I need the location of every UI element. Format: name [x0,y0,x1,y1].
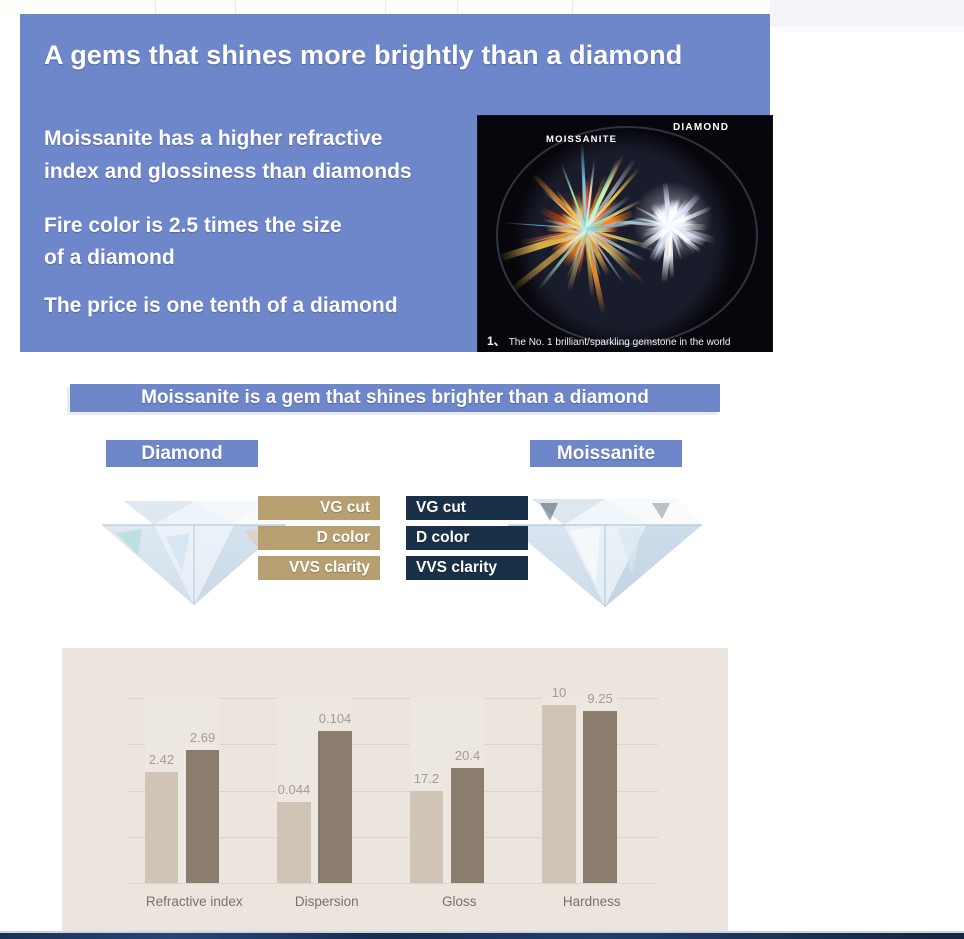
diamond-spec-color: D color [258,526,380,550]
page-title: A gems that shines more brightly than a … [44,40,744,71]
chart-bar-diamond [410,791,444,884]
photo-ring-highlight [496,126,759,345]
hero-line-3: Fire color is 2.5 times the size [44,214,342,238]
property-comparison-chart: 2.422.69Refractive index0.0440.104Disper… [62,648,728,933]
moissanite-spec-clarity: VVS clarity [406,556,528,580]
hero-line-5: The price is one tenth of a diamond [44,294,398,318]
chart-value-label: 17.2 [414,771,439,786]
chart-category-label: Dispersion [295,894,359,909]
sparkle-comparison-photo: MOISSANITE DIAMOND 1、The No. 1 brilliant… [477,115,773,356]
chart-value-label: 0.044 [278,782,311,797]
diamond-spec-cut: VG cut [258,496,380,520]
photo-label-moissanite: MOISSANITE [546,134,617,145]
moissanite-spec-list: VG cut D color VVS clarity [406,496,528,586]
chart-bar-moissanite [318,731,352,883]
hero-line-1: Moissanite has a higher refractive [44,127,382,151]
chart-bar-moissanite [583,711,617,883]
chart-bar-moissanite [451,768,485,883]
chart-category-label: Hardness [563,894,621,909]
moissanite-illustration [500,485,710,610]
chart-value-label: 0.104 [319,711,352,726]
chart-category-label: Gloss [442,894,477,909]
photo-caption: 1、The No. 1 brilliant/sparkling gemstone… [478,332,772,349]
diamond-spec-list: VG cut D color VVS clarity [258,496,380,586]
chart-value-label: 9.25 [587,691,612,706]
chart-bar-diamond [277,802,311,883]
moissanite-spec-color: D color [406,526,528,550]
chart-category-label: Refractive index [146,894,243,909]
chart-gridline [128,883,658,884]
moissanite-spec-cut: VG cut [406,496,528,520]
hero-panel: A gems that shines more brightly than a … [20,14,770,352]
bottom-bar [0,933,964,939]
chart-bar-diamond [145,772,179,883]
chart-value-label: 20.4 [455,748,480,763]
chart-value-label: 2.69 [190,730,215,745]
chart-plot-area: 2.422.69Refractive index0.0440.104Disper… [128,698,658,883]
chart-bar-diamond [542,705,576,883]
chart-value-label: 10 [552,685,566,700]
hero-line-4: of a diamond [44,246,175,270]
top-right-panel-edge [777,26,964,32]
diamond-spec-clarity: VVS clarity [258,556,380,580]
heading-moissanite: Moissanite [530,440,682,467]
chart-bar-moissanite [186,750,220,883]
photo-caption-number: 1、 [487,334,506,348]
heading-diamond: Diamond [106,440,258,467]
top-right-panel [770,0,964,26]
comparison-section: Moissanite is a gem that shines brighter… [0,352,964,642]
chart-value-label: 2.42 [149,752,174,767]
comparison-banner: Moissanite is a gem that shines brighter… [70,384,720,412]
photo-caption-text: The No. 1 brilliant/sparkling gemstone i… [509,337,731,348]
hero-line-2: index and glossiness than diamonds [44,160,412,184]
photo-label-diamond: DIAMOND [673,122,729,133]
